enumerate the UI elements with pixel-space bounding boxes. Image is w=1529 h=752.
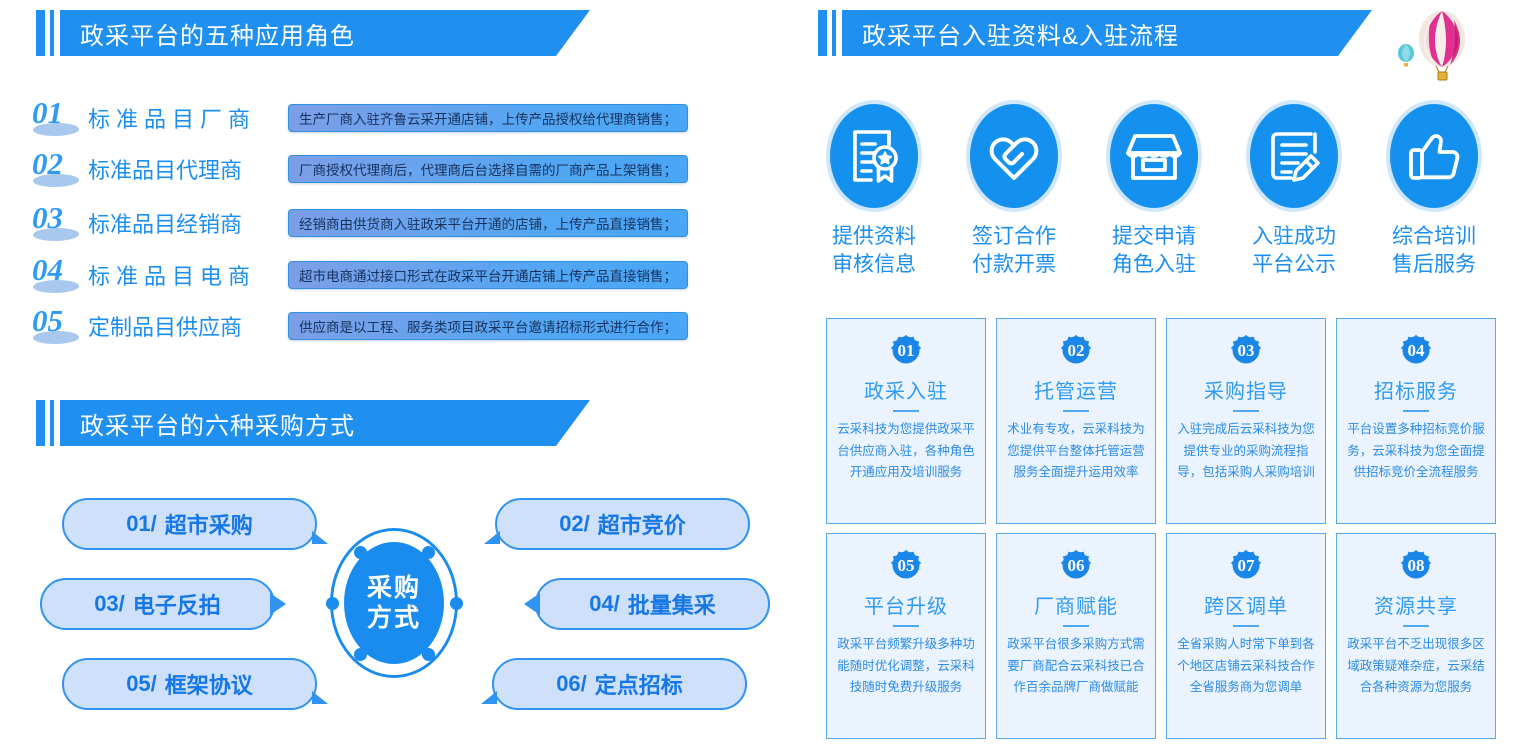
bubble-tail [270, 593, 286, 615]
flow-step[interactable]: 签订合作付款开票 [966, 100, 1062, 278]
role-number: 01 [30, 97, 84, 139]
role-number-text: 03 [32, 200, 63, 236]
banner-accent-bar [818, 10, 827, 56]
card-divider [1403, 625, 1429, 627]
service-card[interactable]: 03采购指导入驻完成后云采科技为您提供专业的采购流程指导，包括采购人采购培训 [1166, 318, 1326, 524]
hub-dot [354, 546, 367, 559]
role-description: 经销商由供货商入驻政采平台开通的店铺，上传产品直接销售； [288, 209, 688, 237]
storefront-icon [1106, 100, 1202, 212]
infographic-page: 政采平台的五种应用角色 01标准品目厂商生产厂商入驻齐鲁云采开通店铺，上传产品授… [0, 0, 1529, 752]
service-card[interactable]: 01政采入驻云采科技为您提供政采平台供应商入驻，各种角色开通应用及培训服务 [826, 318, 986, 524]
card-divider [1063, 625, 1089, 627]
flow-step-line-2: 售后服务 [1386, 251, 1482, 279]
purchase-method-label: 框架协议 [165, 668, 253, 700]
card-number-text: 03 [1226, 331, 1266, 371]
flow-step[interactable]: 综合培训售后服务 [1386, 100, 1482, 278]
card-title: 招标服务 [1374, 375, 1458, 404]
role-name: 标准品目代理商 [88, 153, 278, 185]
banner-accent-bar-thin [832, 10, 836, 56]
banner-roles: 政采平台的五种应用角色 [36, 10, 590, 56]
purchase-method-bubble[interactable]: 03/电子反拍 [40, 578, 275, 630]
bubble-tail [484, 531, 500, 544]
card-divider [1403, 410, 1429, 412]
card-title: 跨区调单 [1204, 590, 1288, 619]
role-number: 03 [30, 202, 84, 244]
purchase-method-bubble[interactable]: 02/超市竞价 [495, 498, 750, 550]
card-body: 政采平台频繁升级多种功能随时优化调整，云采科技随时免费升级服务 [827, 634, 985, 699]
handshake-heart-icon [966, 100, 1062, 212]
card-body: 术业有专攻，云采科技为您提供平台整体托管运营服务全面提升运用效率 [997, 419, 1155, 484]
card-number-text: 07 [1226, 546, 1266, 586]
card-title: 资源共享 [1374, 590, 1458, 619]
purchase-method-label: 电子反拍 [133, 588, 221, 620]
role-number-text: 02 [32, 146, 63, 182]
role-number: 05 [30, 305, 84, 347]
flow-step-label: 综合培训售后服务 [1386, 223, 1482, 278]
role-number-text: 05 [32, 303, 63, 339]
hub-core: 采购 方式 [344, 542, 444, 664]
card-number-badge: 03 [1226, 331, 1266, 371]
service-card[interactable]: 04招标服务平台设置多种招标竞价服务，云采科技为您全面提供招标竞价全流程服务 [1336, 318, 1496, 524]
card-title: 平台升级 [864, 590, 948, 619]
role-number: 04 [30, 254, 84, 296]
hub-dot [422, 648, 435, 661]
card-divider [893, 410, 919, 412]
card-body: 政采平台很多采购方式需要厂商配合云采科技已合作百余品牌厂商做赋能 [997, 634, 1155, 699]
purchase-method-number: 06/ [556, 671, 587, 697]
role-number-text: 01 [32, 95, 63, 131]
flow-step-label: 入驻成功平台公示 [1246, 223, 1342, 278]
role-description: 生产厂商入驻齐鲁云采开通店铺，上传产品授权给代理商销售； [288, 104, 688, 132]
role-row: 01标准品目厂商生产厂商入驻齐鲁云采开通店铺，上传产品授权给代理商销售； [30, 97, 688, 139]
banner-purchase: 政采平台的六种采购方式 [36, 400, 590, 446]
thumbs-up-icon [1386, 100, 1482, 212]
banner-accent-bar-thin [50, 10, 54, 56]
card-number-badge: 05 [886, 546, 926, 586]
role-description: 超市电商通过接口形式在政采平台开通店铺上传产品直接销售； [288, 261, 688, 289]
card-title: 厂商赋能 [1034, 590, 1118, 619]
purchase-method-number: 01/ [126, 511, 157, 537]
role-description: 供应商是以工程、服务类项目政采平台邀请招标形式进行合作； [288, 312, 688, 340]
purchase-method-bubble[interactable]: 06/定点招标 [492, 658, 747, 710]
card-number-badge: 01 [886, 331, 926, 371]
onboard-title: 政采平台入驻资料&入驻流程 [862, 16, 1179, 51]
role-number: 02 [30, 148, 84, 190]
purchase-method-bubble[interactable]: 04/批量集采 [535, 578, 770, 630]
role-description: 厂商授权代理商后，代理商后台选择自需的厂商产品上架销售； [288, 155, 688, 183]
banner-slab: 政采平台的五种应用角色 [60, 10, 590, 56]
bubble-tail [312, 691, 328, 704]
flow-step-label: 提供资料审核信息 [826, 223, 922, 278]
purchase-method-label: 定点招标 [595, 668, 683, 700]
flow-step-label: 提交申请角色入驻 [1106, 223, 1202, 278]
role-number-text: 04 [32, 252, 63, 288]
document-edit-icon [1246, 100, 1342, 212]
role-row: 04标准品目电商超市电商通过接口形式在政采平台开通店铺上传产品直接销售； [30, 254, 688, 296]
banner-accent-bar [36, 400, 45, 446]
hub-line-2: 方式 [367, 603, 421, 634]
purchase-method-label: 批量集采 [628, 588, 716, 620]
banner-accent-bar [36, 10, 45, 56]
card-number-text: 06 [1056, 546, 1096, 586]
service-card[interactable]: 07跨区调单全省采购人时常下单到各个地区店铺云采科技合作全省服务商为您调单 [1166, 533, 1326, 739]
bubble-tail [312, 531, 328, 544]
card-body: 云采科技为您提供政采平台供应商入驻，各种角色开通应用及培训服务 [827, 419, 985, 484]
banner-slab: 政采平台入驻资料&入驻流程 [842, 10, 1372, 56]
flow-step-line-2: 角色入驻 [1106, 251, 1202, 279]
banner-onboarding: 政采平台入驻资料&入驻流程 [818, 10, 1372, 56]
card-title: 托管运营 [1034, 375, 1118, 404]
role-name: 标准品目经销商 [88, 207, 278, 239]
card-body: 全省采购人时常下单到各个地区店铺云采科技合作全省服务商为您调单 [1167, 634, 1325, 699]
purchase-method-number: 05/ [126, 671, 157, 697]
card-number-badge: 08 [1396, 546, 1436, 586]
card-number-text: 02 [1056, 331, 1096, 371]
hub-dot [354, 648, 367, 661]
card-title: 政采入驻 [864, 375, 948, 404]
hub-dot [422, 546, 435, 559]
purchase-method-number: 02/ [559, 511, 590, 537]
banner-accent-bar-thin [50, 400, 54, 446]
banner-slab: 政采平台的六种采购方式 [60, 400, 590, 446]
role-row: 02标准品目代理商厂商授权代理商后，代理商后台选择自需的厂商产品上架销售； [30, 148, 688, 190]
card-divider [1233, 625, 1259, 627]
card-body: 平台设置多种招标竞价服务，云采科技为您全面提供招标竞价全流程服务 [1337, 419, 1495, 484]
role-name: 标准品目电商 [88, 259, 278, 291]
flow-step-line-1: 综合培训 [1386, 223, 1482, 251]
card-body: 政采平台不乏出现很多区域政策疑难杂症，云采结合各种资源为您服务 [1337, 634, 1495, 699]
service-card[interactable]: 08资源共享政采平台不乏出现很多区域政策疑难杂症，云采结合各种资源为您服务 [1336, 533, 1496, 739]
purchase-hub: 采购 方式 [330, 528, 458, 678]
roles-title: 政采平台的五种应用角色 [80, 16, 355, 51]
flow-step-line-2: 付款开票 [966, 251, 1062, 279]
card-number-badge: 06 [1056, 546, 1096, 586]
flow-step-label: 签订合作付款开票 [966, 223, 1062, 278]
bubble-tail [524, 593, 540, 615]
purchase-method-bubble[interactable]: 05/框架协议 [62, 658, 317, 710]
flow-step[interactable]: 入驻成功平台公示 [1246, 100, 1342, 278]
card-divider [1063, 410, 1089, 412]
purchase-method-bubble[interactable]: 01/超市采购 [62, 498, 317, 550]
service-card[interactable]: 06厂商赋能政采平台很多采购方式需要厂商配合云采科技已合作百余品牌厂商做赋能 [996, 533, 1156, 739]
role-row: 05定制品目供应商供应商是以工程、服务类项目政采平台邀请招标形式进行合作； [30, 305, 688, 347]
certificate-icon [826, 100, 922, 212]
hub-dot [326, 597, 339, 610]
card-number-badge: 02 [1056, 331, 1096, 371]
card-number-badge: 07 [1226, 546, 1266, 586]
flow-step-line-2: 审核信息 [826, 251, 922, 279]
card-number-badge: 04 [1396, 331, 1436, 371]
flow-step[interactable]: 提交申请角色入驻 [1106, 100, 1202, 278]
flow-step-line-2: 平台公示 [1246, 251, 1342, 279]
role-name: 定制品目供应商 [88, 310, 278, 342]
card-divider [893, 625, 919, 627]
flow-step-line-1: 入驻成功 [1246, 223, 1342, 251]
card-number-text: 08 [1396, 546, 1436, 586]
flow-step-line-1: 提供资料 [826, 223, 922, 251]
hot-air-balloon-icon [1392, 6, 1478, 87]
card-body: 入驻完成后云采科技为您提供专业的采购流程指导，包括采购人采购培训 [1167, 419, 1325, 484]
card-number-text: 04 [1396, 331, 1436, 371]
service-card[interactable]: 05平台升级政采平台频繁升级多种功能随时优化调整，云采科技随时免费升级服务 [826, 533, 986, 739]
hub-line-1: 采购 [367, 573, 421, 604]
bubble-tail [481, 691, 497, 704]
purchase-title: 政采平台的六种采购方式 [80, 406, 355, 441]
flow-step-line-1: 提交申请 [1106, 223, 1202, 251]
purchase-method-number: 04/ [589, 591, 620, 617]
role-name: 标准品目厂商 [88, 102, 278, 134]
card-number-text: 01 [886, 331, 926, 371]
flow-step-line-1: 签订合作 [966, 223, 1062, 251]
card-number-text: 05 [886, 546, 926, 586]
card-divider [1233, 410, 1259, 412]
purchase-method-label: 超市竞价 [598, 508, 686, 540]
role-row: 03标准品目经销商经销商由供货商入驻政采平台开通的店铺，上传产品直接销售； [30, 202, 688, 244]
service-card[interactable]: 02托管运营术业有专攻，云采科技为您提供平台整体托管运营服务全面提升运用效率 [996, 318, 1156, 524]
flow-step[interactable]: 提供资料审核信息 [826, 100, 922, 278]
purchase-method-label: 超市采购 [165, 508, 253, 540]
card-title: 采购指导 [1204, 375, 1288, 404]
purchase-method-number: 03/ [94, 591, 125, 617]
hub-dot [450, 597, 463, 610]
